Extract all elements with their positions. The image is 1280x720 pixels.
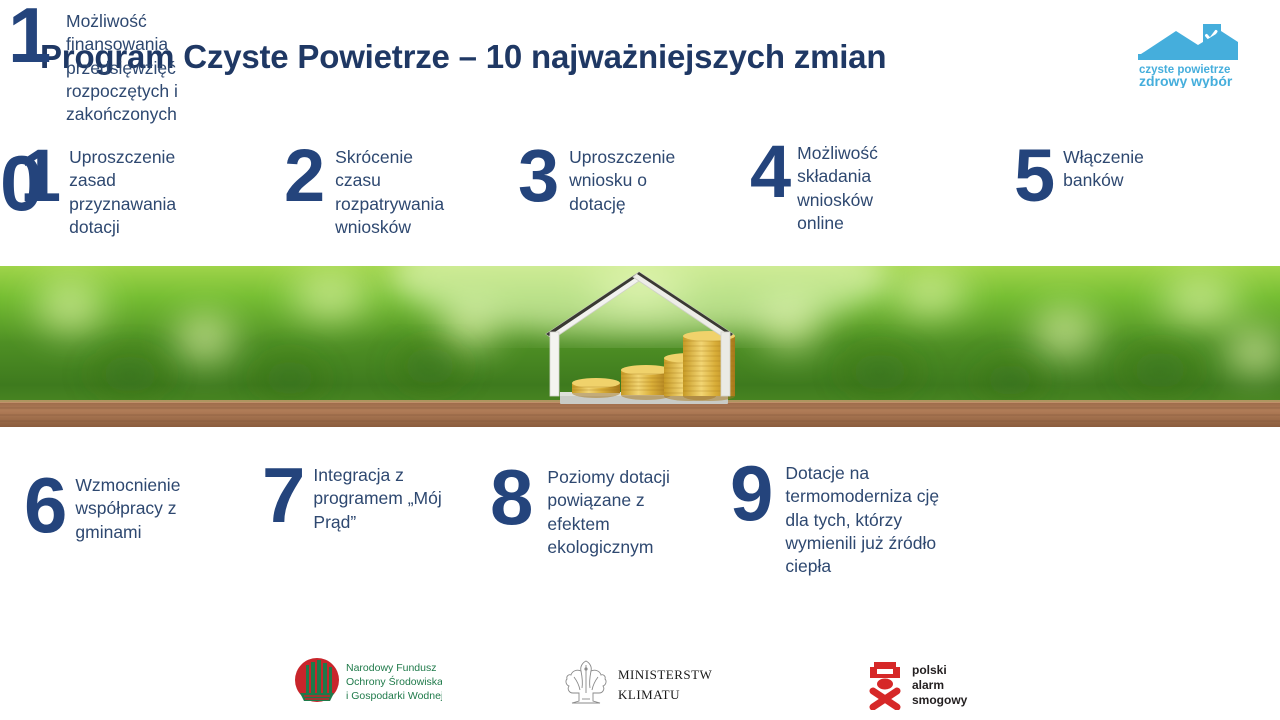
ministerstwo-klimatu-logo: MINISTERSTWO KLIMATU <box>562 655 712 713</box>
item-label: Uproszczenie zasad przyznawania dotacji <box>69 142 189 239</box>
polish-eagle-emblem <box>566 661 606 703</box>
item-label: Poziomy dotacji powiązane z efektem ekol… <box>547 462 681 559</box>
pas-line-2: alarm <box>912 678 944 692</box>
pas-red-icon <box>870 662 900 707</box>
list-item-6: 6 Wzmocnienie współpracy z gminami <box>24 470 215 544</box>
logo-line2: zdrowy wybór <box>1139 73 1233 88</box>
list-item-7: 7 Integracja z programem „Mój Prąd” <box>262 460 455 534</box>
item-number: 2 <box>284 142 325 210</box>
house-with-coin-stacks-photo <box>0 266 1280 427</box>
polski-alarm-smogowy-logo: polski alarm smogowy <box>868 658 988 710</box>
item-number-top: 1 <box>8 0 51 72</box>
roof-shape <box>1138 31 1238 56</box>
list-item-4: 4 Możliwość składania wniosków online <box>750 138 913 235</box>
nfosigw-line-1: Narodowy Fundusz <box>346 662 436 674</box>
list-item-1: 1 Uproszczenie zasad przyznawania dotacj… <box>20 142 189 239</box>
czyste-powietrze-logo: czyste powietrze zdrowy wybór <box>1136 24 1240 88</box>
list-item-2: 2 Skrócenie czasu rozpatrywania wniosków <box>284 142 463 239</box>
pas-line-3: smogowy <box>912 693 968 707</box>
item-label: Włączenie banków <box>1063 142 1179 193</box>
item-label: Integracja z programem „Mój Prąd” <box>313 460 455 534</box>
roof-base <box>1138 54 1238 60</box>
list-item-3: 3 Uproszczenie wniosku o dotację <box>518 142 705 216</box>
nfosigw-line-2: Ochrony Środowiska <box>346 675 442 688</box>
item-label: Wzmocnienie współpracy z gminami <box>75 470 215 544</box>
item-number: 8 <box>490 462 533 534</box>
nfosigw-line-3: i Gospodarki Wodnej <box>346 690 442 702</box>
ministry-line-2: KLIMATU <box>618 687 680 702</box>
ministry-line-1: MINISTERSTWO <box>618 667 712 682</box>
list-item-9: 9 Dotacje na termomoderniza cję dla tych… <box>730 458 951 578</box>
item-number: 9 <box>730 458 773 530</box>
item-number-bottom: 0 <box>0 148 43 220</box>
nfosigw-logo: Narodowy Fundusz Ochrony Środowiska i Go… <box>292 655 442 713</box>
list-item-5: 5 Włączenie banków <box>1014 142 1179 210</box>
item-number: 3 <box>518 142 559 210</box>
item-number: 6 <box>24 470 67 542</box>
item-label: Skrócenie czasu rozpatrywania wniosków <box>335 142 463 239</box>
item-label: Dotacje na termomoderniza cję dla tych, … <box>785 458 951 578</box>
item-number: 4 <box>750 138 791 206</box>
item-label: Uproszczenie wniosku o dotację <box>569 142 705 216</box>
item-label: Możliwość finansowania przedsięwzięć roz… <box>66 6 244 126</box>
item-label: Możliwość składania wniosków online <box>797 138 913 235</box>
item-number: 5 <box>1014 142 1055 210</box>
pas-line-1: polski <box>912 663 947 677</box>
list-item-8: 8 Poziomy dotacji powiązane z efektem ek… <box>490 462 681 559</box>
item-number: 7 <box>262 460 305 532</box>
slide-canvas: Program Czyste Powietrze – 10 najważniej… <box>0 0 1280 720</box>
